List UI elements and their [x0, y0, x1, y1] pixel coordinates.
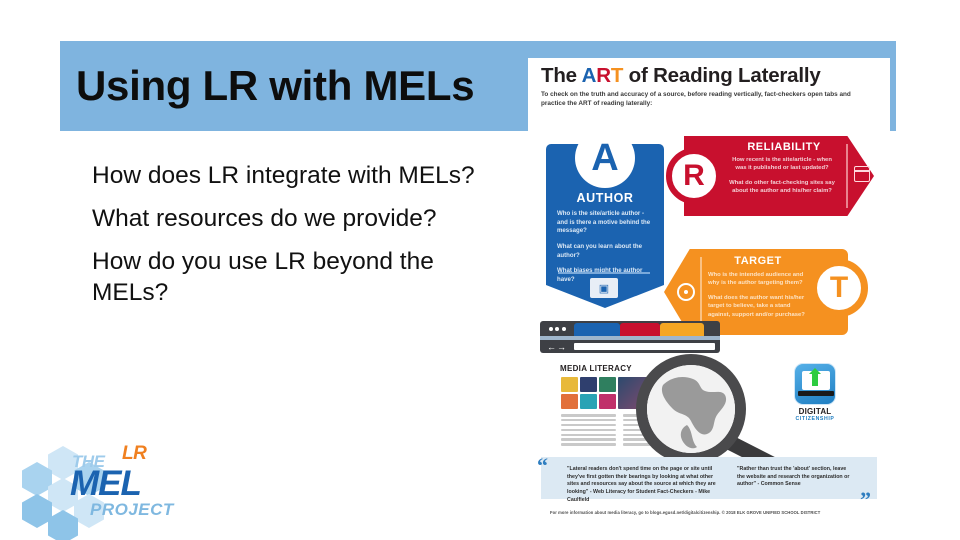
calendar-icon [854, 166, 870, 182]
logo-lr: LR [122, 443, 146, 465]
infographic-header: The ART of Reading Laterally To check on… [541, 64, 881, 109]
infographic-subtitle: To check on the truth and accuracy of a … [541, 91, 859, 109]
bullet-list: How does LR integrate with MELs? What re… [92, 160, 502, 320]
url-field [574, 343, 715, 350]
author-point: Who is the site/article author - and is … [557, 210, 653, 236]
text-lines-block [561, 414, 616, 448]
author-letter-badge: A [575, 128, 635, 188]
magnifier-lens [636, 354, 746, 464]
media-literacy-label: MEDIA LITERACY [560, 364, 632, 373]
logo: THE LR MEL PROJECT [22, 438, 212, 524]
target-point: What does the author want his/her target… [708, 294, 808, 319]
title-letter-r: R [596, 64, 611, 87]
laptop-base [798, 391, 834, 396]
chart-monitor-icon: ▣ [590, 278, 618, 298]
target-letter-badge: T [810, 259, 868, 317]
globe-icon [641, 359, 741, 459]
thumbnail [561, 394, 578, 409]
target-point: Who is the intended audience and why is … [708, 271, 808, 288]
reliability-section: RELIABILITY How recent is the site/artic… [666, 130, 882, 222]
page-title: Using LR with MELs [76, 50, 526, 122]
reliability-label: RELIABILITY [724, 141, 844, 153]
infographic-image: The ART of Reading Laterally To check on… [528, 58, 890, 528]
logo-project: PROJECT [90, 500, 174, 520]
quote-text: "Rather than trust the 'about' section, … [737, 466, 853, 489]
nav-arrows-icon: ←→ [540, 342, 574, 352]
thumbnail [561, 377, 578, 392]
browser-window-mock: ←→ [540, 321, 720, 353]
window-dots-icon [540, 321, 574, 336]
divider [846, 144, 848, 208]
reliability-point: What do other fact-checking sites say ab… [726, 179, 838, 196]
quote-text: "Lateral readers don't spend time on the… [567, 466, 719, 504]
divider [700, 257, 702, 327]
divider [558, 272, 650, 274]
reliability-point: How recent is the site/article - when wa… [726, 156, 838, 173]
title-letter-a: A [582, 64, 597, 87]
list-item: How does LR integrate with MELs? [92, 160, 502, 191]
thumbnail [599, 394, 616, 409]
digital-citizenship-line2: CITIZENSHIP [790, 416, 840, 422]
reliability-letter-badge: R [666, 148, 722, 204]
thumbnail [580, 377, 597, 392]
digital-citizenship-line1: DIGITAL [790, 407, 840, 416]
digital-citizenship-badge: DIGITAL CITIZENSHIP [790, 363, 840, 422]
infographic-title: The ART of Reading Laterally [541, 64, 881, 88]
browser-tab [620, 323, 660, 336]
browser-address-bar: ←→ [540, 340, 720, 353]
browser-tab-strip [540, 321, 720, 336]
infographic-footer: For more information about media literac… [550, 510, 880, 515]
quote-open-icon: “ [537, 453, 548, 479]
browser-tab [660, 323, 704, 336]
list-item: How do you use LR beyond the MELs? [92, 246, 502, 308]
title-post: of Reading Laterally [623, 64, 820, 87]
quotes-band: “ "Lateral readers don't spend time on t… [541, 457, 877, 499]
logo-mel: MEL [70, 464, 141, 504]
target-points: Who is the intended audience and why is … [708, 271, 808, 325]
media-thumbnail-grid [561, 377, 616, 409]
author-point: What can you learn about the author? [557, 243, 653, 260]
reliability-points: How recent is the site/article - when wa… [726, 156, 838, 202]
slide-canvas: Using LR with MELs How does LR integrate… [0, 0, 960, 540]
title-pre: The [541, 64, 582, 87]
list-item: What resources do we provide? [92, 203, 502, 234]
title-letter-t: T [611, 64, 623, 87]
target-label: TARGET [706, 255, 810, 267]
thumbnail [599, 377, 616, 392]
up-arrow-icon [812, 373, 818, 386]
author-section: AUTHOR Who is the site/article author - … [546, 128, 664, 308]
laptop-icon [794, 363, 836, 405]
author-label: AUTHOR [546, 191, 664, 205]
thumbnail [580, 394, 597, 409]
browser-tab [574, 323, 620, 336]
target-bullseye-icon [677, 283, 695, 301]
